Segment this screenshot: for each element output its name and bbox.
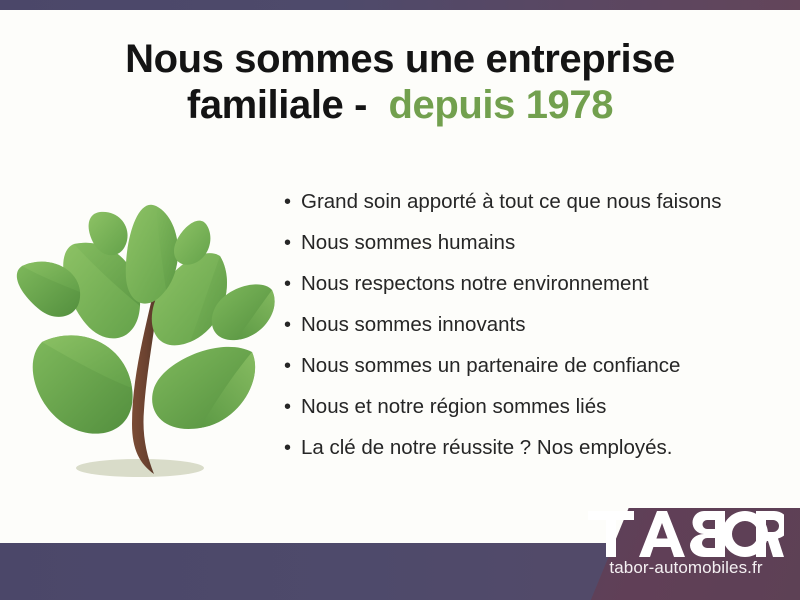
list-item: • Nous sommes humains bbox=[284, 231, 784, 272]
list-item: • Nous sommes un partenaire de confiance bbox=[284, 354, 784, 395]
title-accent: depuis 1978 bbox=[388, 83, 613, 127]
top-accent-bar bbox=[0, 0, 800, 10]
list-item-label: La clé de notre réussite ? Nos employés. bbox=[301, 436, 672, 460]
list-item: • Nous sommes innovants bbox=[284, 313, 784, 354]
tree-shadow-ellipse bbox=[76, 459, 204, 477]
value-list: • Grand soin apporté à tout ce que nous … bbox=[284, 190, 784, 477]
tree-leaves bbox=[17, 205, 275, 434]
slide-root: Nous sommes une entreprise familiale - d… bbox=[0, 0, 800, 600]
logo-tagline: tabor-automobiles.fr bbox=[609, 558, 762, 578]
list-item-label: Nous sommes un partenaire de confiance bbox=[301, 354, 680, 378]
bullet-dot-icon: • bbox=[284, 438, 301, 458]
bullet-dot-icon: • bbox=[284, 233, 301, 253]
bullet-dot-icon: • bbox=[284, 397, 301, 417]
list-item: • La clé de notre réussite ? Nos employé… bbox=[284, 436, 784, 477]
brand-logo[interactable]: tabor-automobiles.fr bbox=[580, 511, 792, 589]
tabor-wordmark-icon bbox=[588, 511, 784, 557]
title-line-2: familiale - depuis 1978 bbox=[0, 82, 800, 128]
title-line-1: Nous sommes une entreprise bbox=[0, 36, 800, 82]
list-item-label: Nous respectons notre environnement bbox=[301, 272, 649, 296]
title-prefix: familiale bbox=[187, 83, 343, 127]
page-title: Nous sommes une entreprise familiale - d… bbox=[0, 36, 800, 129]
list-item: • Nous et notre région sommes liés bbox=[284, 395, 784, 436]
bullet-dot-icon: • bbox=[284, 274, 301, 294]
list-item-label: Grand soin apporté à tout ce que nous fa… bbox=[301, 190, 722, 214]
title-dash: - bbox=[354, 83, 367, 127]
tree-illustration bbox=[14, 182, 282, 490]
bullet-dot-icon: • bbox=[284, 192, 301, 212]
list-item-label: Nous sommes innovants bbox=[301, 313, 525, 337]
list-item: • Grand soin apporté à tout ce que nous … bbox=[284, 190, 784, 231]
list-item-label: Nous et notre région sommes liés bbox=[301, 395, 606, 419]
list-item: • Nous respectons notre environnement bbox=[284, 272, 784, 313]
bullet-dot-icon: • bbox=[284, 356, 301, 376]
list-item-label: Nous sommes humains bbox=[301, 231, 515, 255]
bullet-dot-icon: • bbox=[284, 315, 301, 335]
